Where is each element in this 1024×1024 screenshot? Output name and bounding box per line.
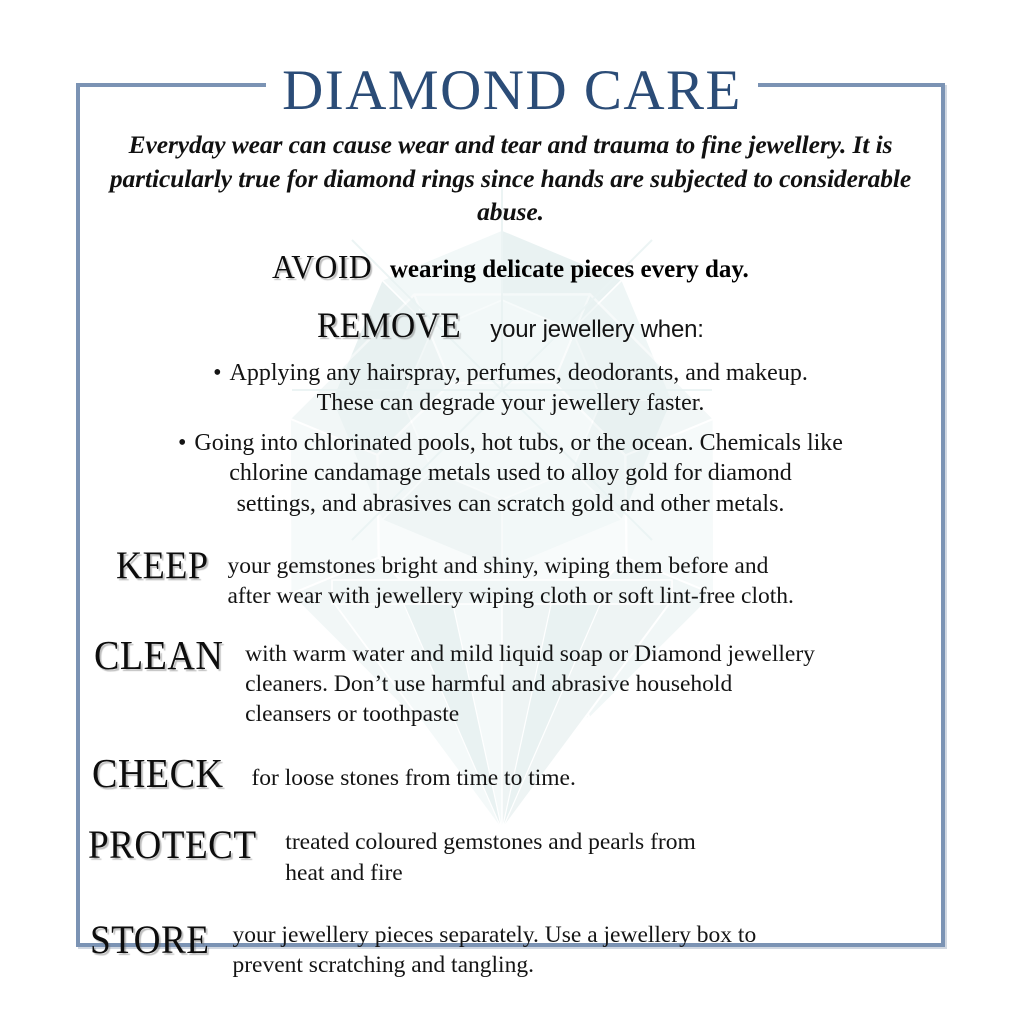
remove-bullet-list: •Applying any hairspray, perfumes, deodo… [80, 358, 941, 519]
clean-line-2: cleaners. Don’t use harmful and abrasive… [245, 669, 941, 699]
store-line-2: prevent scratching and tangling. [232, 950, 941, 980]
bullet-1-line-1: Going into chlorinated pools, hot tubs, … [194, 430, 843, 456]
keyword-remove: REMOVE [317, 307, 461, 343]
bullet-1-line-2: chlorine candamage metals used to alloy … [96, 458, 925, 488]
intro-paragraph: Everyday wear can cause wear and tear an… [102, 128, 919, 229]
protect-line-2: heat and fire [285, 858, 941, 888]
bullet-0-line-2: These can degrade your jewellery faster. [96, 388, 925, 418]
keyword-avoid: AVOID [272, 251, 372, 285]
bullet-1-line-3: settings, and abrasives can scratch gold… [96, 489, 925, 519]
bullet-0-line-1: Applying any hairspray, perfumes, deodor… [230, 360, 808, 386]
protect-line-1: treated coloured gemstones and pearls fr… [285, 827, 941, 857]
keyword-check: CHECK [92, 751, 224, 793]
section-keep: KEEP your gemstones bright and shiny, wi… [80, 545, 941, 611]
bullet-marker: • [213, 360, 221, 386]
clean-line-1: with warm water and mild liquid soap or … [245, 639, 941, 669]
section-avoid: AVOID wearing delicate pieces every day. [80, 251, 941, 285]
section-remove: REMOVE your jewellery when: [80, 307, 941, 346]
check-text: for loose stones from time to time. [233, 751, 941, 793]
keyword-keep: KEEP [116, 545, 209, 585]
remove-text: your jewellery when: [472, 307, 703, 346]
keep-line-1: your gemstones bright and shiny, wiping … [228, 551, 942, 581]
page-title: DIAMOND CARE [266, 62, 758, 119]
keep-line-2: after wear with jewellery wiping cloth o… [228, 581, 942, 611]
store-line-1: your jewellery pieces separately. Use a … [232, 920, 941, 950]
list-item: •Going into chlorinated pools, hot tubs,… [80, 428, 941, 519]
check-line-1: for loose stones from time to time. [251, 763, 941, 793]
keyword-clean: CLEAN [94, 633, 223, 675]
page-title-wrapper: DIAMOND CARE [0, 62, 1024, 119]
keyword-store: STORE [90, 918, 209, 959]
keep-text: your gemstones bright and shiny, wiping … [216, 545, 942, 611]
poster-content: Everyday wear can cause wear and tear an… [80, 128, 941, 980]
diamond-care-poster: DIAMOND CARE Everyday wear can cause wea… [0, 0, 1024, 1024]
store-text: your jewellery pieces separately. Use a … [218, 918, 941, 980]
section-clean: CLEAN with warm water and mild liquid so… [80, 633, 941, 729]
avoid-text: wearing delicate pieces every day. [380, 251, 749, 284]
bullet-marker: • [178, 430, 186, 456]
list-item: •Applying any hairspray, perfumes, deodo… [80, 358, 941, 418]
keyword-protect: PROTECT [88, 823, 257, 864]
section-store: STORE your jewellery pieces separately. … [80, 918, 941, 980]
clean-line-3: cleansers or toothpaste [245, 699, 941, 729]
protect-text: treated coloured gemstones and pearls fr… [269, 823, 941, 887]
section-check: CHECK for loose stones from time to time… [80, 751, 941, 793]
clean-text: with warm water and mild liquid soap or … [233, 633, 941, 729]
section-protect: PROTECT treated coloured gemstones and p… [80, 823, 941, 887]
